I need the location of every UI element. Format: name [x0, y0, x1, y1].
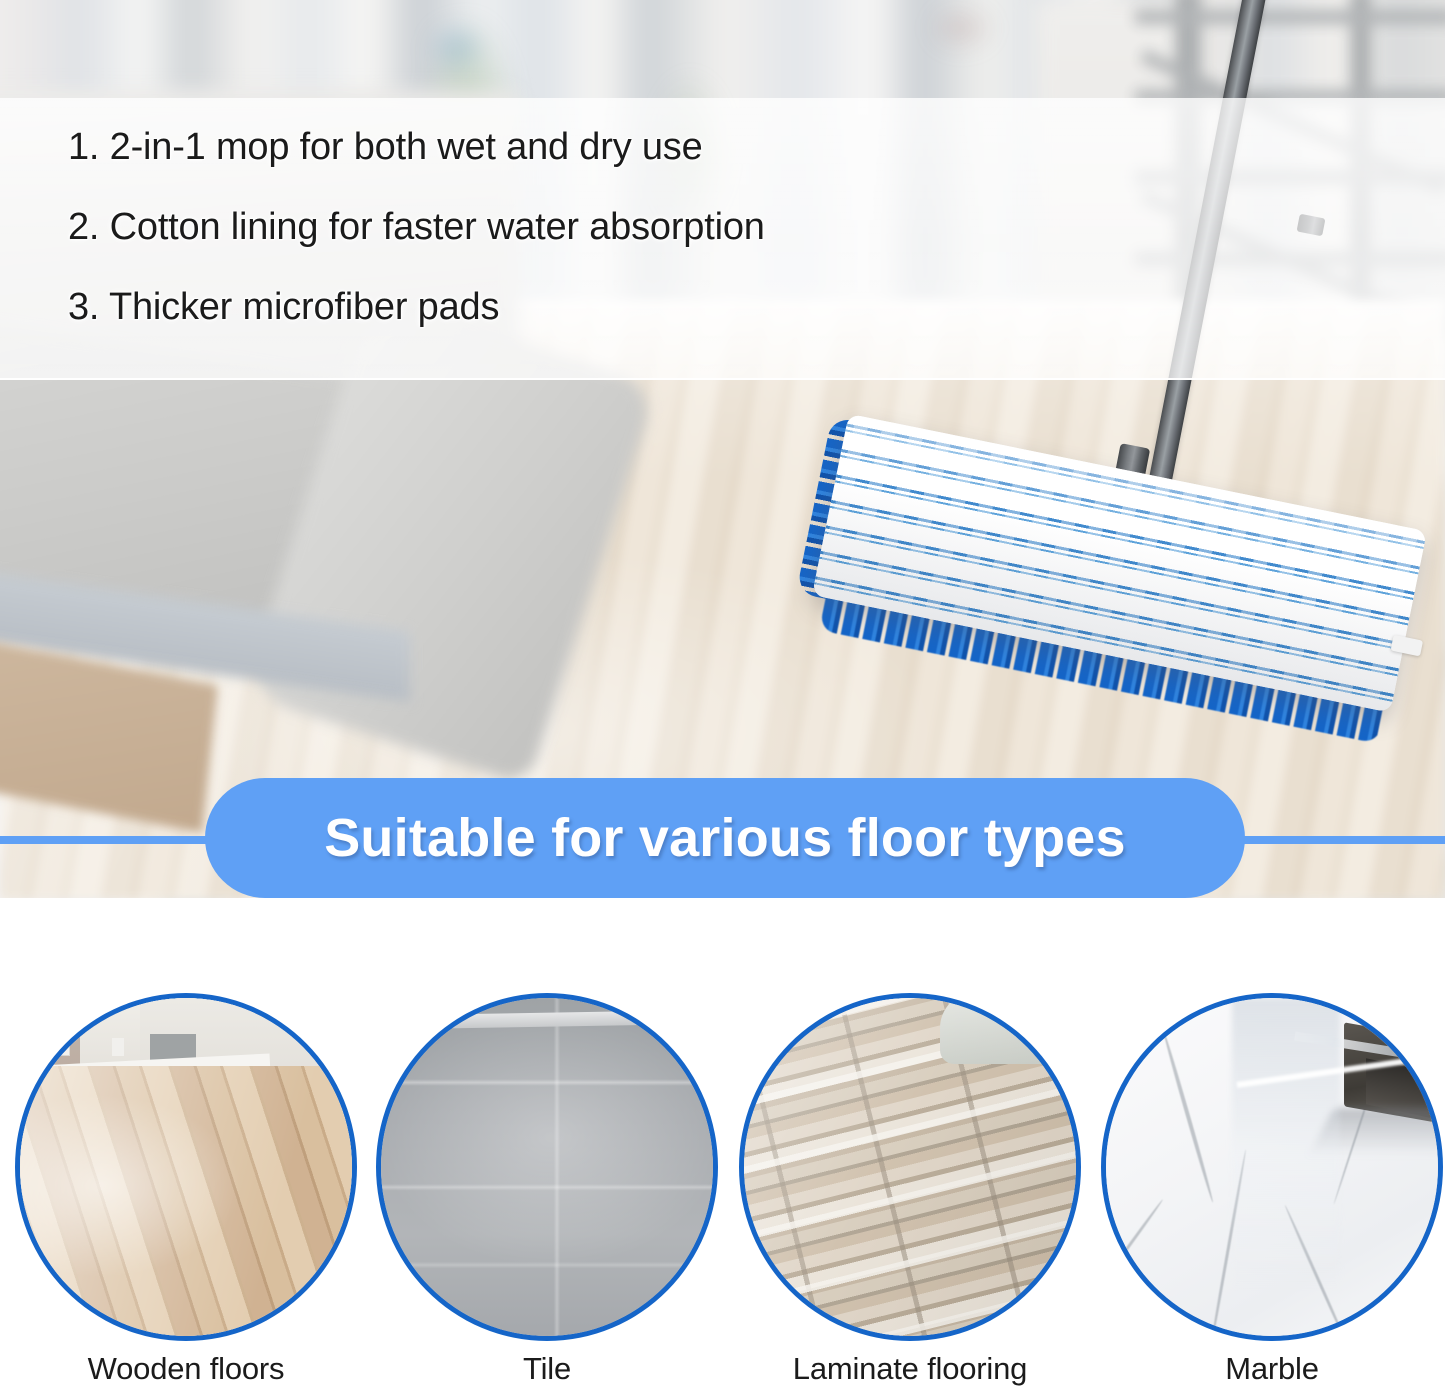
floor-type-label: Wooden floors	[6, 1351, 366, 1387]
feature-item-1: 1. 2-in-1 mop for both wet and dry use	[68, 128, 1168, 166]
floor-type-image-wooden	[15, 993, 357, 1341]
wooden-room-scene	[20, 998, 352, 1336]
hardwood-light	[15, 1066, 357, 1341]
feature-item-3: 3. Thicker microfiber pads	[68, 288, 1168, 326]
floor-type-label: Tile	[367, 1351, 727, 1387]
floor-type-image-marble	[1101, 993, 1443, 1341]
floor-types-banner: Suitable for various floor types	[205, 778, 1245, 898]
floor-type-laminate-flooring: Laminate flooring	[730, 993, 1090, 1389]
tile-sheen	[381, 998, 713, 1336]
floor-type-label: Marble	[1092, 1351, 1445, 1387]
floor-type-image-laminate	[739, 993, 1081, 1341]
railing-rail	[1135, 10, 1445, 24]
laminate-sheen	[744, 998, 1076, 1336]
floor-types-gallery: Wooden floors Tile Laminate flooring	[0, 993, 1445, 1389]
banner-label: Suitable for various floor types	[324, 807, 1126, 869]
wall-outlet	[58, 1036, 70, 1056]
floor-type-label: Laminate flooring	[730, 1351, 1090, 1387]
feature-list: 1. 2-in-1 mop for both wet and dry use 2…	[68, 128, 1168, 368]
wall-outlet	[112, 1038, 124, 1056]
floor-type-wooden-floors: Wooden floors	[6, 993, 366, 1389]
floor-type-tile: Tile	[367, 993, 727, 1389]
hero-photo: 1. 2-in-1 mop for both wet and dry use 2…	[0, 0, 1445, 898]
floor-type-image-tile	[376, 993, 718, 1341]
feature-item-2: 2. Cotton lining for faster water absorp…	[68, 208, 1168, 246]
product-infographic: 1. 2-in-1 mop for both wet and dry use 2…	[0, 0, 1445, 1389]
floor-type-marble: Marble	[1092, 993, 1445, 1389]
marble-reflection	[1232, 998, 1340, 1341]
